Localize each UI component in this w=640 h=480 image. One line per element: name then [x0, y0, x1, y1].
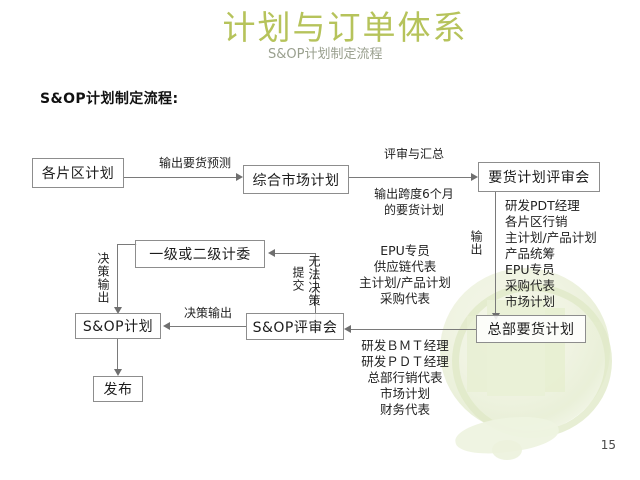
deck-title: 计划与订单体系 [180, 8, 510, 48]
slide-canvas: 计划与订单体系 S&OP计划制定流程 S&OP计划制定流程: 各片区计划 综合市… [0, 0, 640, 480]
arrow-sop-review-to-sop-plan [163, 322, 170, 330]
page-number: 15 [601, 438, 616, 452]
node-sop-review[interactable]: S&OP评审会 [246, 313, 344, 340]
edge-committee-left-stub [117, 244, 137, 245]
arrow-region-to-market [236, 173, 243, 181]
list-item: 研发ＰＤＴ经理 [338, 354, 472, 370]
list-item: 主计划/产品计划 [505, 230, 597, 246]
list-item: 采购代表 [340, 291, 470, 307]
list-item: 市场计划 [338, 386, 472, 402]
list-item: 采购代表 [505, 278, 597, 294]
edge-region-to-market [124, 177, 236, 178]
node-demand-review[interactable]: 要货计划评审会 [478, 162, 600, 192]
list-epu-group: EPU专员 供应链代表 主计划/产品计划 采购代表 [340, 243, 470, 307]
list-item: EPU专员 [505, 262, 597, 278]
list-item: 财务代表 [338, 402, 472, 418]
list-demand-review-members: 研发PDT经理 各片区行销 主计划/产品计划 产品统筹 EPU专员 采购代表 市… [505, 198, 597, 310]
list-item: 产品统筹 [505, 246, 597, 262]
edge-demand-review-to-hq-plan [495, 192, 496, 315]
node-region-plan[interactable]: 各片区计划 [32, 158, 124, 188]
node-market-plan[interactable]: 综合市场计划 [243, 165, 349, 194]
label-output-vertical: 输出 [469, 230, 482, 264]
arrow-hq-plan-to-sop-review [344, 325, 351, 333]
edge-sop-review-to-sop-plan [170, 326, 246, 327]
label-span-six-months-line1: 输出跨度6个月 [361, 186, 467, 202]
label-submit-vertical: 提交 [291, 266, 304, 296]
edge-sop-plan-to-publish [117, 339, 118, 371]
arrow-sop-plan-to-publish [114, 369, 122, 376]
list-item: 供应链代表 [340, 259, 470, 275]
node-publish[interactable]: 发布 [93, 376, 143, 402]
edge-hq-plan-to-sop-review [351, 329, 476, 330]
label-cannot-decide-vertical: 无法决策 [307, 255, 320, 307]
section-heading: S&OP计划制定流程: [40, 88, 178, 108]
label-review-summary: 评审与汇总 [369, 146, 459, 162]
label-decision-output-horizontal: 决策输出 [174, 305, 242, 321]
label-decision-output-vertical: 决策输出 [96, 252, 109, 308]
edge-market-to-demand-review [349, 177, 471, 178]
watermark-tail-icon [453, 412, 560, 458]
label-span-six-months-line2: 的要货计划 [361, 202, 467, 218]
list-item: EPU专员 [340, 243, 470, 259]
node-hq-demand-plan[interactable]: 总部要货计划 [476, 315, 586, 343]
list-item: 研发ＢＭＴ经理 [338, 338, 472, 354]
list-sop-review-members: 研发ＢＭＴ经理 研发ＰＤＴ经理 总部行销代表 市场计划 财务代表 [338, 338, 472, 418]
edge-committee-to-sop-plan [117, 244, 118, 310]
list-item: 主计划/产品计划 [340, 275, 470, 291]
list-item: 研发PDT经理 [505, 198, 597, 214]
deck-subtitle: S&OP计划制定流程 [268, 46, 498, 64]
arrow-market-to-demand-review [471, 173, 478, 181]
node-committee[interactable]: 一级或二级计委 [135, 240, 265, 268]
arrow-into-committee [268, 249, 275, 257]
node-sop-plan[interactable]: S&OP计划 [75, 313, 161, 339]
list-item: 市场计划 [505, 294, 597, 310]
list-item: 各片区行销 [505, 214, 597, 230]
label-forecast-output: 输出要货预测 [148, 155, 242, 171]
edge-sop-review-to-committee [275, 253, 315, 254]
watermark-drop-icon [492, 440, 522, 460]
list-item: 总部行销代表 [338, 370, 472, 386]
